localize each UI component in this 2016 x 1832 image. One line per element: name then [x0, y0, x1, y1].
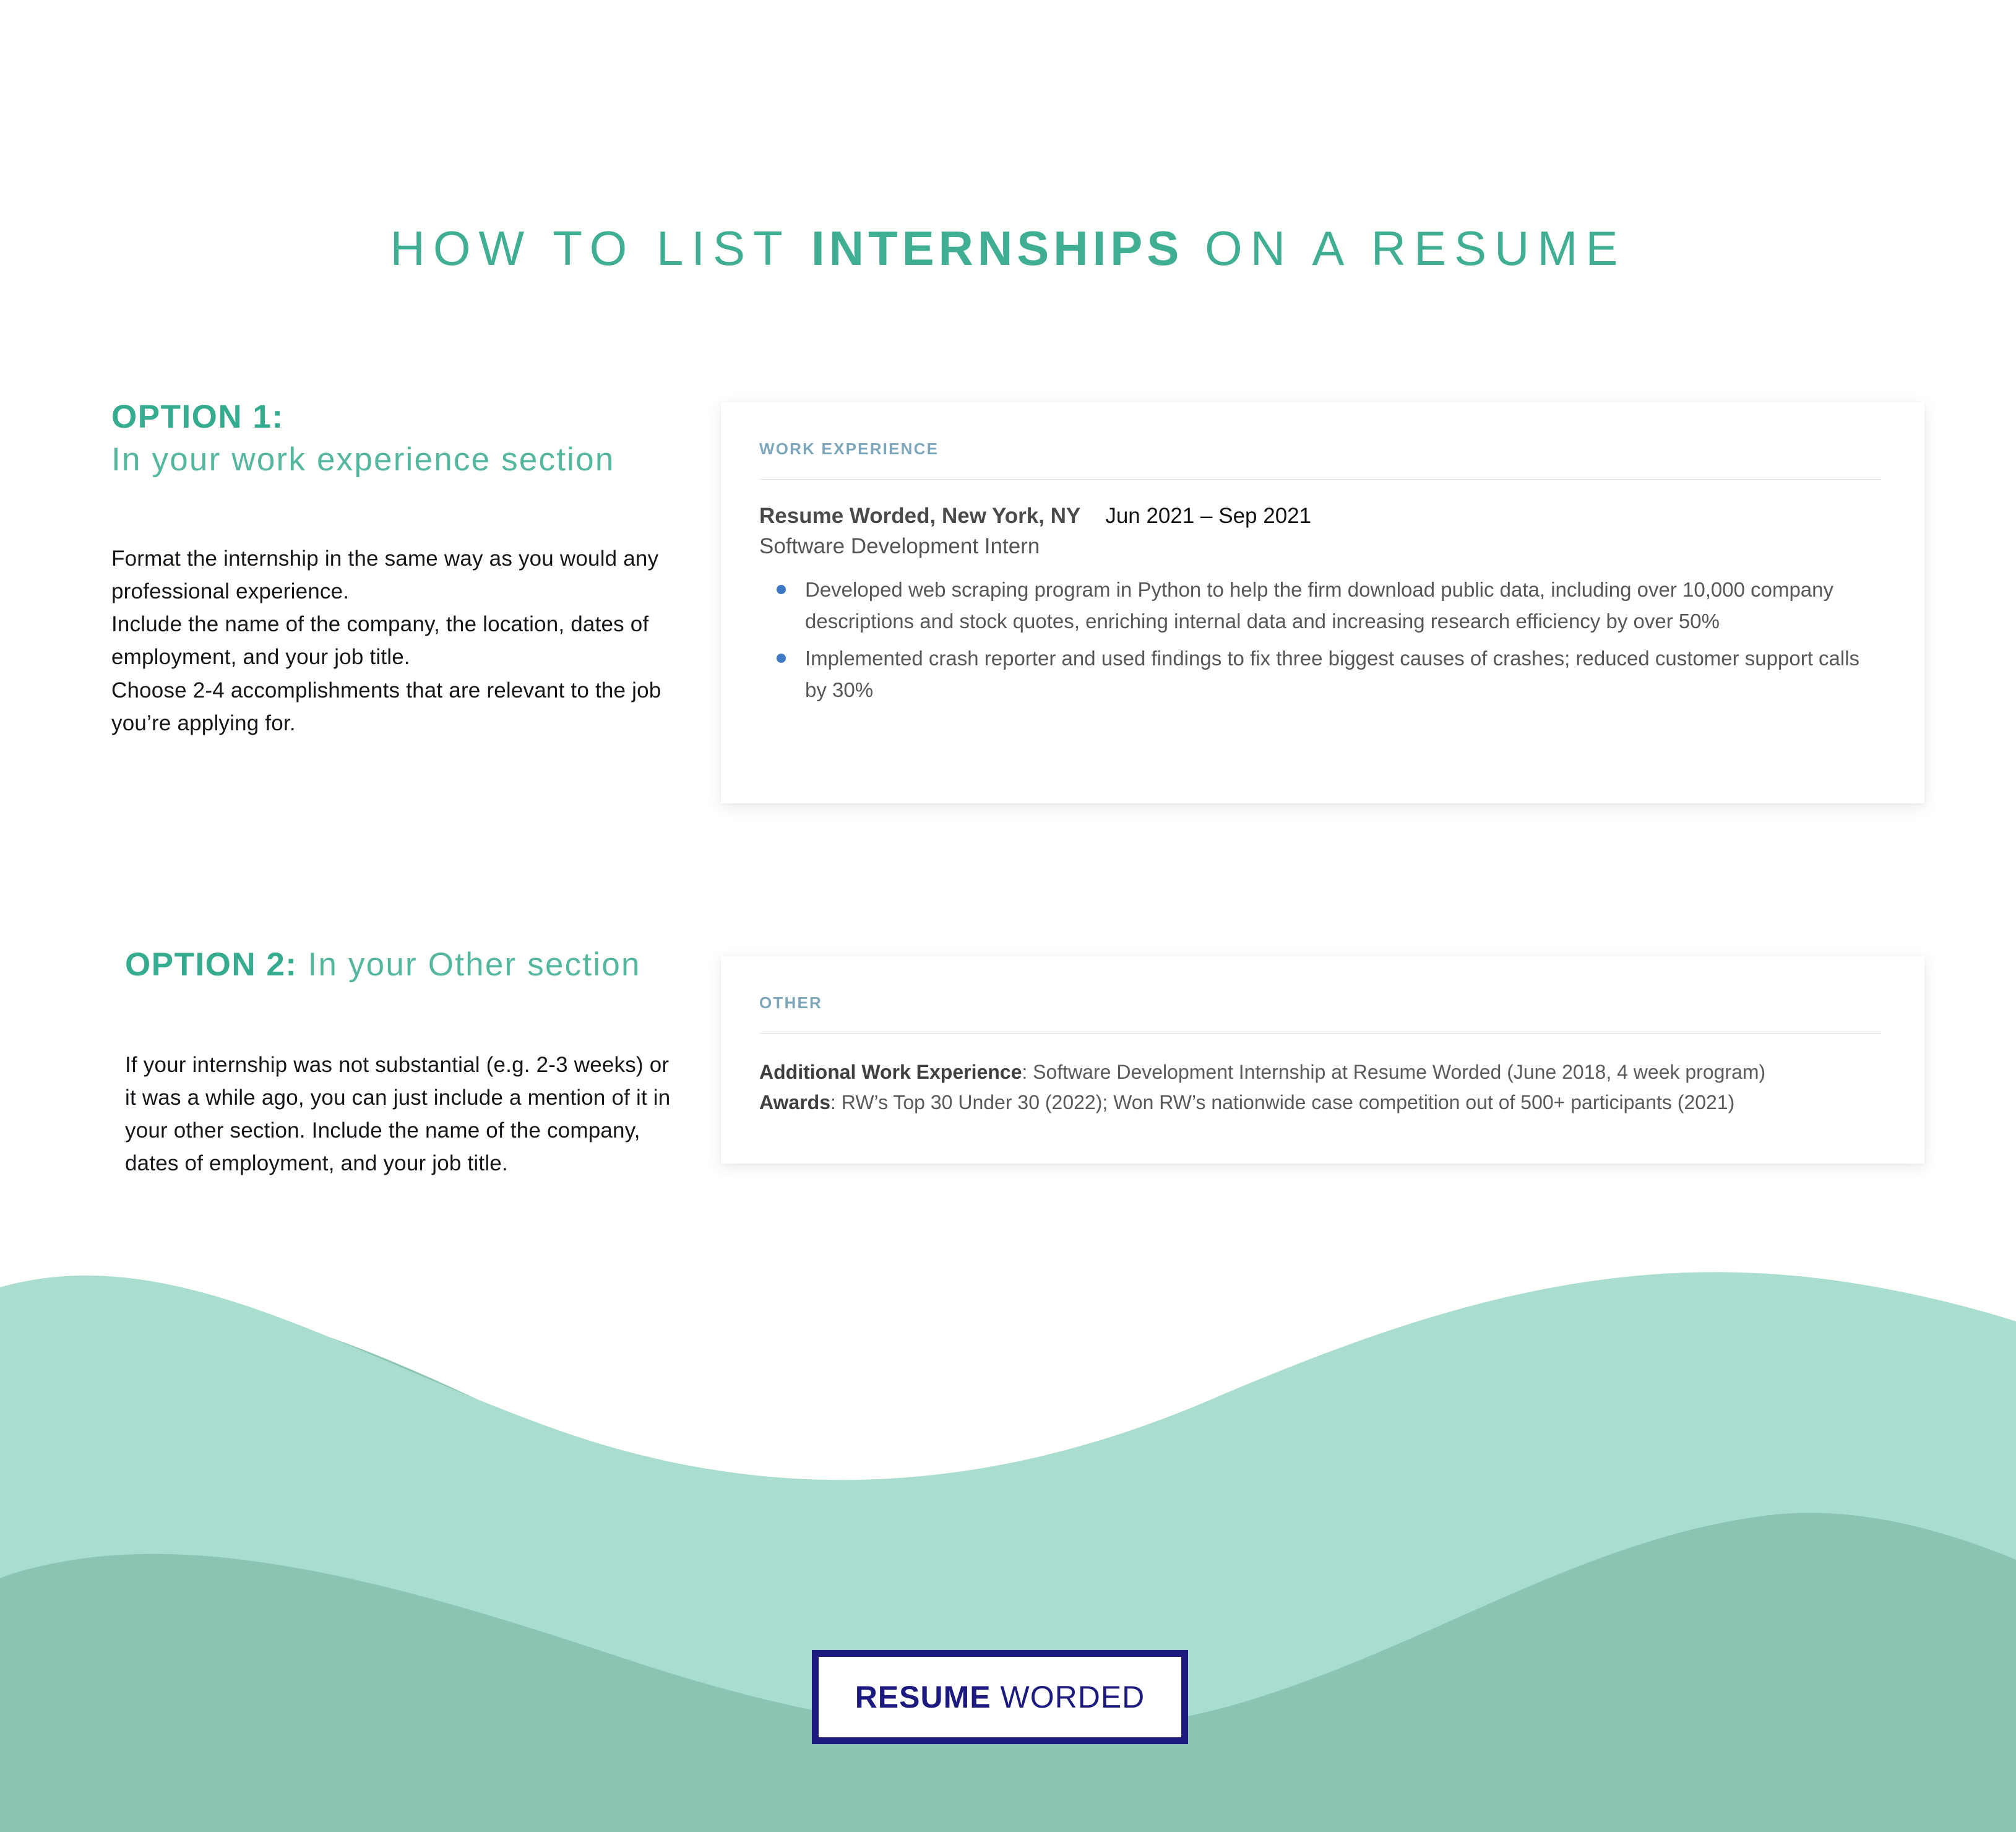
other-section-divider [759, 1033, 1881, 1034]
other-section-title: OTHER [759, 993, 1881, 1013]
page-title: HOW TO LIST INTERNSHIPS ON A RESUME [0, 144, 2016, 283]
resume-worded-logo[interactable]: RESUME WORDED [812, 1650, 1188, 1744]
option-1-subtitle: In your work experience section [111, 441, 615, 478]
page-title-part1: HOW TO LIST [390, 221, 811, 275]
option-1-block: OPTION 1: In your work experience sectio… [111, 396, 671, 740]
logo-text-bold: RESUME [855, 1680, 991, 1714]
option-2-label: OPTION 2: [125, 946, 298, 983]
job-dates: Jun 2021 – Sep 2021 [1105, 504, 1311, 528]
bullet-dot-icon [777, 585, 786, 594]
option-1-heading: OPTION 1: In your work experience sectio… [111, 396, 671, 482]
job-title: Software Development Intern [759, 532, 1881, 561]
other-section-card: OTHER Additional Work Experience: Softwa… [721, 956, 1924, 1164]
work-experience-card-inner: WORK EXPERIENCE Resume Worded, New York,… [721, 402, 1924, 706]
option-2-subtitle: In your Other section [298, 946, 641, 983]
job-bullet-item: Developed web scraping program in Python… [759, 574, 1881, 637]
option-1-label: OPTION 1: [111, 399, 284, 435]
other-row-label: Awards [759, 1091, 830, 1113]
work-experience-divider [759, 479, 1881, 480]
job-bullet-text: Implemented crash reporter and used find… [805, 647, 1859, 701]
work-experience-section-title: WORK EXPERIENCE [759, 439, 1881, 459]
page-title-highlight: INTERNSHIPS [811, 221, 1183, 275]
job-company: Resume Worded, New York, NY [759, 504, 1080, 528]
job-headline: Resume Worded, New York, NYJun 2021 – Se… [759, 502, 1881, 530]
other-row-value: : RW’s Top 30 Under 30 (2022); Won RW’s … [830, 1091, 1734, 1113]
bullet-dot-icon [777, 654, 786, 663]
other-row-value: : Software Development Internship at Res… [1022, 1061, 1765, 1083]
logo-text: RESUME WORDED [855, 1679, 1145, 1715]
job-bullet-item: Implemented crash reporter and used find… [759, 642, 1881, 706]
other-section-card-inner: OTHER Additional Work Experience: Softwa… [721, 956, 1924, 1118]
logo-text-regular: WORDED [991, 1680, 1145, 1714]
other-row: Additional Work Experience: Software Dev… [759, 1057, 1881, 1087]
other-row-label: Additional Work Experience [759, 1061, 1022, 1083]
job-bullet-text: Developed web scraping program in Python… [805, 578, 1833, 633]
option-1-body: Format the internship in the same way as… [111, 542, 671, 740]
option-2-body: If your internship was not substantial (… [111, 1048, 671, 1180]
other-row: Awards: RW’s Top 30 Under 30 (2022); Won… [759, 1087, 1881, 1118]
page-title-part2: ON A RESUME [1183, 221, 1626, 275]
job-bullet-list: Developed web scraping program in Python… [759, 574, 1881, 706]
other-section-rows: Additional Work Experience: Software Dev… [759, 1057, 1881, 1118]
option-2-block: OPTION 2: In your Other section If your … [111, 944, 671, 1180]
work-experience-card: WORK EXPERIENCE Resume Worded, New York,… [721, 402, 1924, 803]
option-2-heading: OPTION 2: In your Other section [111, 944, 671, 987]
